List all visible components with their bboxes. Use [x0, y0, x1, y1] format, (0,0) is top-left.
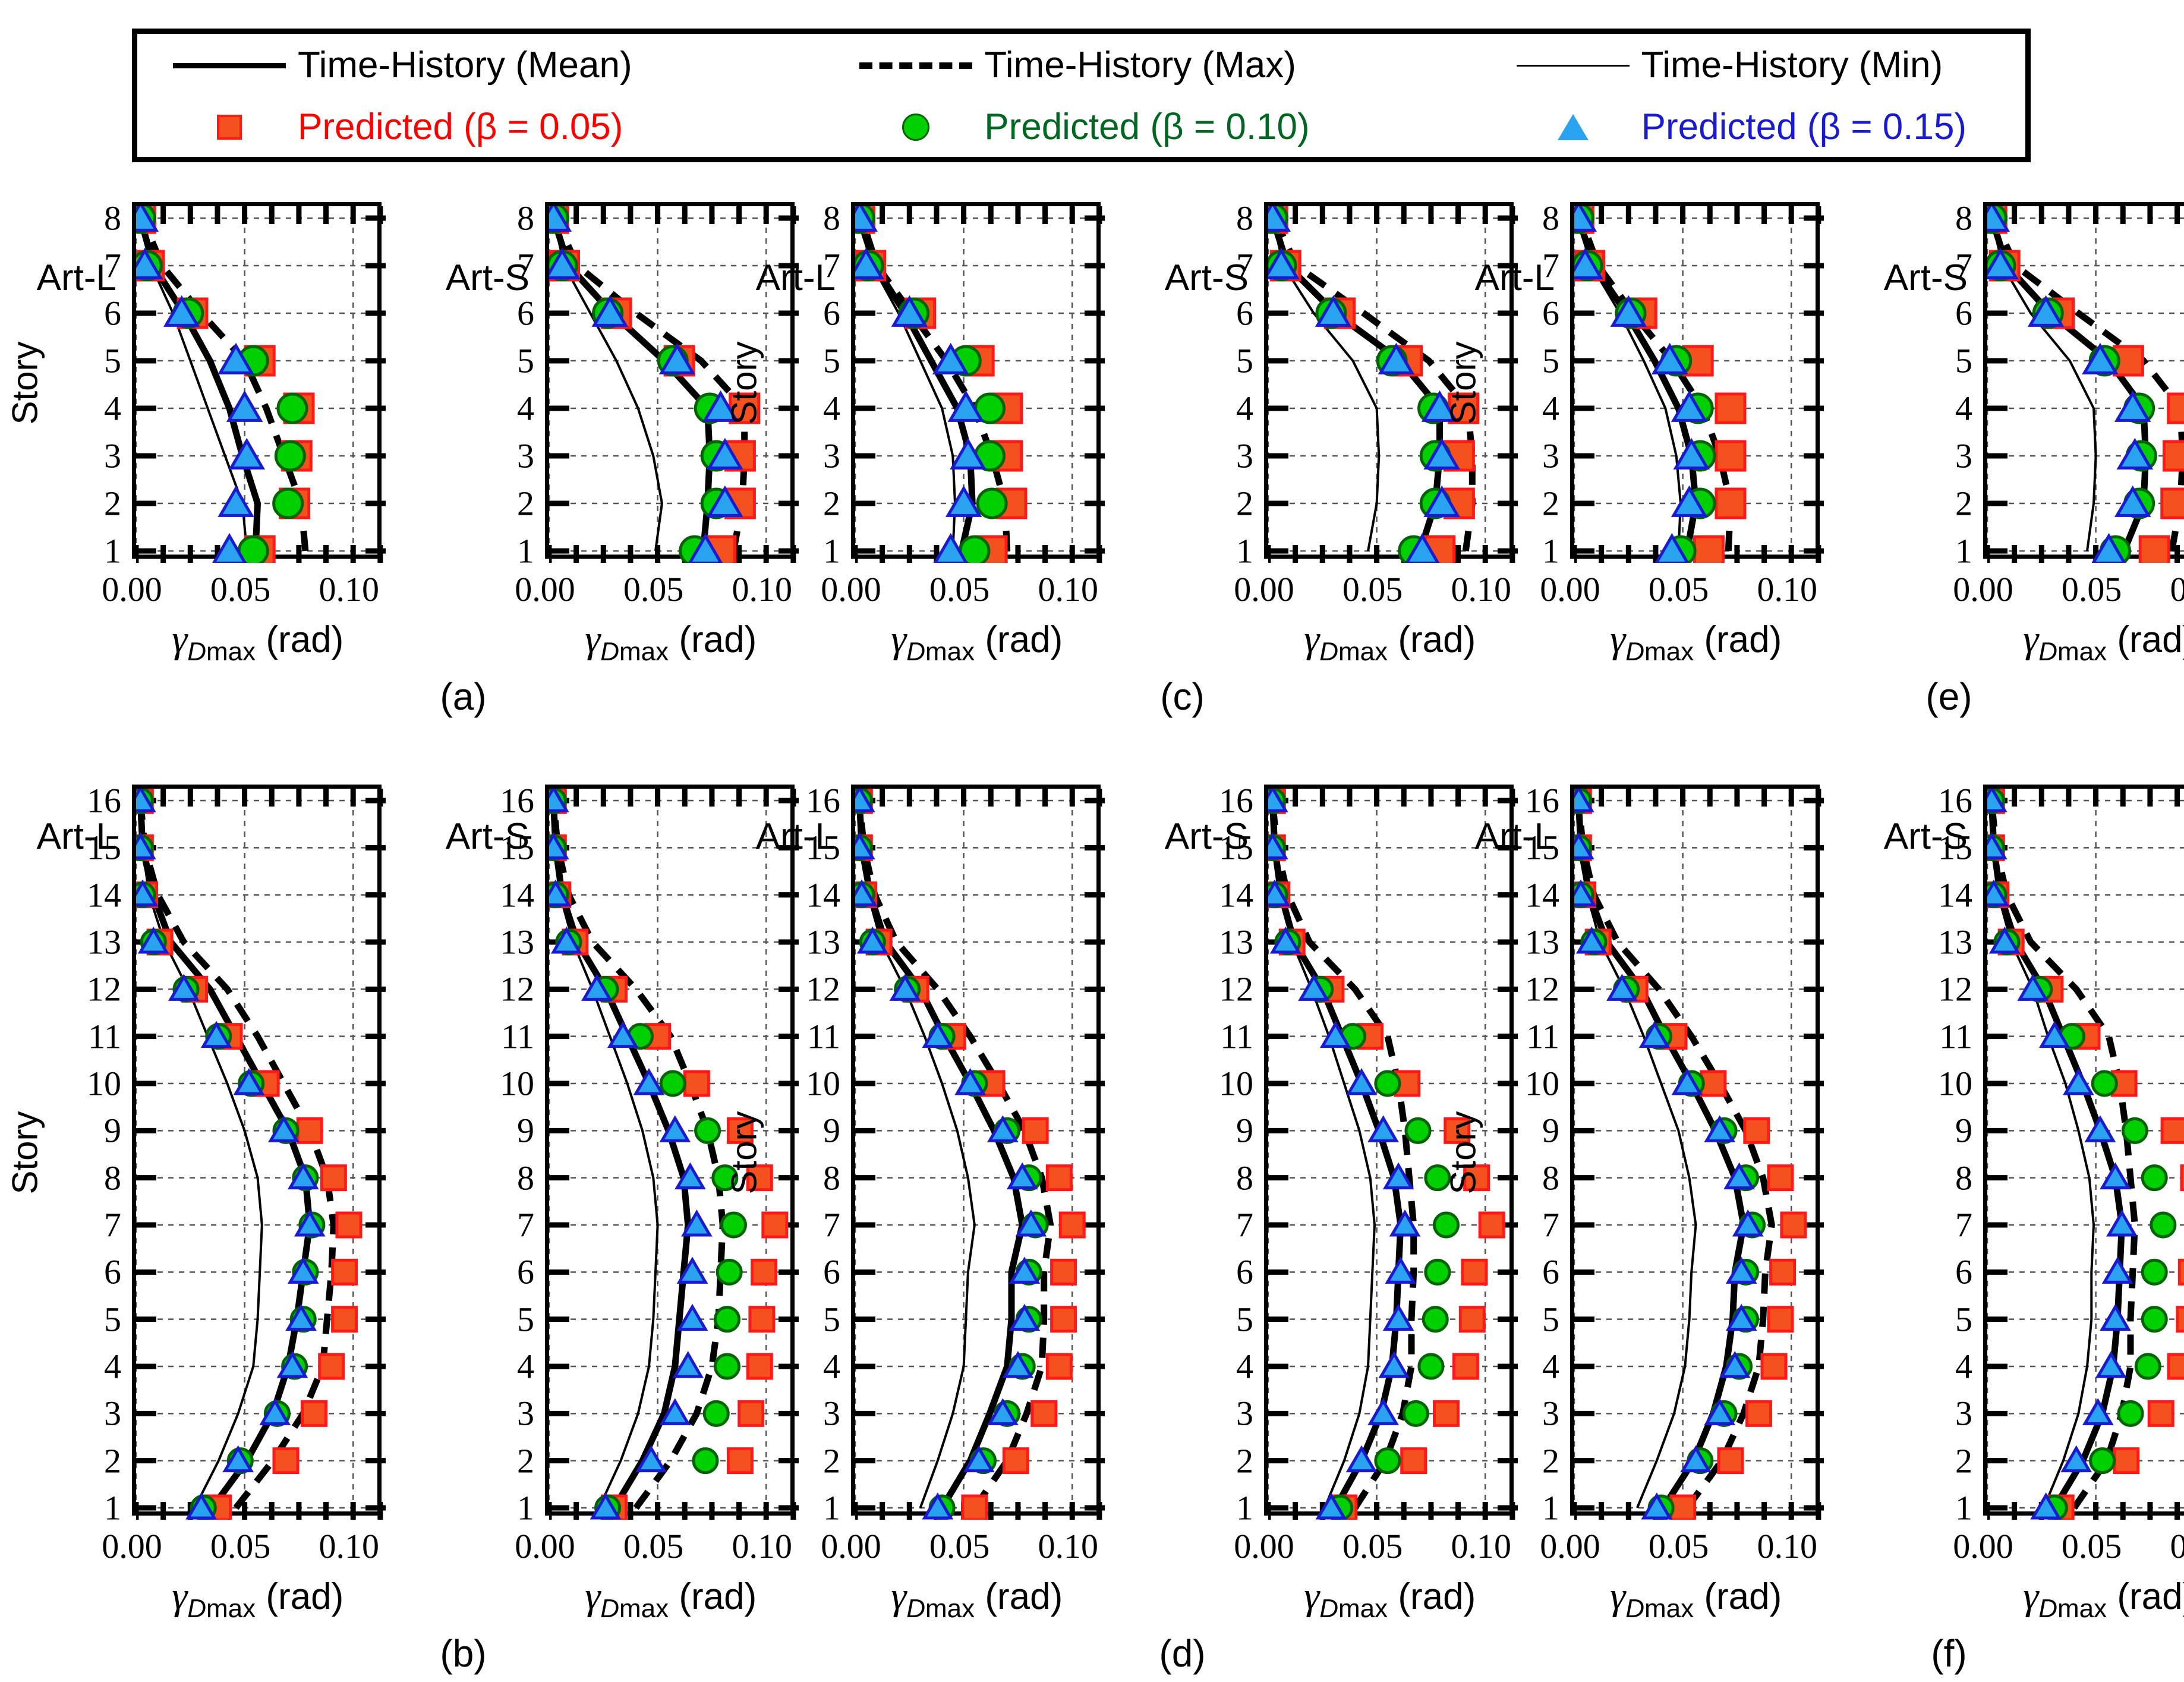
y-tick-label: 4 — [1187, 1347, 1253, 1387]
y-tick-label: 7 — [1187, 246, 1253, 286]
legend-item-mean: Time-History (Mean) — [137, 42, 847, 89]
x-tick-label: 0.00 — [102, 1526, 162, 1566]
y-tick-label: 12 — [55, 969, 121, 1009]
marker-circle-beta010 — [2123, 1119, 2147, 1142]
x-tick-label: 0.05 — [1342, 569, 1403, 609]
y-tick-label: 8 — [1493, 199, 1559, 238]
y-tick-label: 6 — [1906, 294, 1972, 333]
y-tick-label: 6 — [774, 1252, 840, 1292]
marker-square-beta005 — [1023, 1119, 1047, 1142]
y-tick-label: 5 — [1493, 1299, 1559, 1339]
marker-square-beta005 — [1060, 1213, 1084, 1237]
line-solid-thick-icon — [161, 63, 298, 68]
y-tick-label: 11 — [468, 1016, 534, 1056]
x-tick-label: 0.10 — [1038, 1526, 1098, 1566]
x-tick-label: 0.05 — [210, 569, 271, 609]
x-axis-label: γDmax (rad) — [891, 1574, 1063, 1624]
marker-square-beta005 — [728, 1449, 752, 1473]
y-tick-label: 5 — [774, 1299, 840, 1339]
y-axis-label: Story — [1443, 306, 1484, 461]
marker-square-beta005 — [1782, 1213, 1805, 1237]
y-tick-label: 5 — [1906, 1299, 1972, 1339]
plot-frame — [1570, 785, 1820, 1516]
y-tick-label: 7 — [1493, 246, 1559, 286]
plot-canvas — [1574, 789, 1824, 1520]
marker-circle-beta010 — [274, 489, 302, 518]
y-tick-label: 3 — [468, 1394, 534, 1434]
marker-square-beta005 — [337, 1213, 361, 1237]
x-tick-label: 0.10 — [2170, 569, 2184, 609]
marker-square-beta005 — [1771, 1260, 1795, 1284]
y-tick-label: 4 — [1493, 389, 1559, 429]
marker-circle-beta010 — [2092, 1072, 2116, 1095]
y-tick-label: 2 — [1187, 484, 1253, 524]
legend-label-mean: Time-History (Mean) — [298, 42, 632, 89]
y-tick-label: 1 — [1493, 531, 1559, 571]
series-line — [1991, 801, 2135, 1508]
y-tick-label: 13 — [774, 922, 840, 962]
y-tick-label: 2 — [774, 484, 840, 524]
legend-item-beta005: Predicted (β = 0.05) — [137, 104, 847, 150]
x-axis-label: γDmax (rad) — [2023, 617, 2184, 667]
marker-circle-beta010 — [2142, 1166, 2166, 1190]
x-axis-label: γDmax (rad) — [2023, 1574, 2184, 1624]
plot-frame — [1983, 202, 2184, 559]
y-tick-label: 6 — [468, 1252, 534, 1292]
x-tick-label: 0.05 — [929, 1526, 990, 1566]
marker-triangle-beta015 — [1385, 1307, 1411, 1330]
y-tick-label: 7 — [1493, 1205, 1559, 1245]
marker-circle-beta010 — [1376, 1072, 1400, 1095]
x-tick-label: 0.00 — [102, 569, 162, 609]
x-tick-label: 0.05 — [623, 1526, 684, 1566]
y-tick-label: 3 — [1187, 436, 1253, 476]
y-tick-label: 8 — [1187, 199, 1253, 238]
marker-square-beta005 — [963, 1496, 987, 1520]
x-tick-label: 0.10 — [1451, 569, 1511, 609]
x-tick-label: 0.10 — [732, 1526, 792, 1566]
x-tick-label: 0.00 — [1234, 1526, 1294, 1566]
y-tick-label: 8 — [1493, 1158, 1559, 1198]
marker-square-beta005 — [1716, 442, 1745, 470]
y-tick-label: 7 — [468, 246, 534, 286]
marker-circle-beta010 — [1426, 1260, 1449, 1284]
y-tick-label: 13 — [1906, 922, 1972, 962]
y-tick-label: 4 — [1493, 1347, 1559, 1387]
y-tick-label: 3 — [1906, 1394, 1972, 1434]
marker-square-beta005 — [1463, 1260, 1486, 1284]
x-tick-label: 0.10 — [319, 1526, 379, 1566]
marker-triangle-beta015 — [1381, 1354, 1407, 1377]
legend-item-beta010: Predicted (β = 0.10) — [847, 104, 1504, 150]
y-tick-label: 5 — [774, 341, 840, 381]
x-tick-label: 0.00 — [1540, 1526, 1600, 1566]
y-tick-label: 8 — [1906, 199, 1972, 238]
y-axis-label: Story — [1443, 1076, 1484, 1230]
marker-triangle-beta015 — [1348, 1071, 1375, 1094]
y-tick-label: 16 — [1906, 781, 1972, 821]
marker-square-beta005 — [752, 1260, 776, 1284]
y-tick-label: 15 — [55, 828, 121, 868]
marker-square-beta005 — [1716, 394, 1745, 423]
marker-circle-beta010 — [715, 1355, 739, 1378]
x-axis-label: γDmax (rad) — [172, 1574, 343, 1624]
y-tick-label: 3 — [1187, 1394, 1253, 1434]
marker-triangle-beta015 — [1348, 1448, 1375, 1471]
marker-square-beta005 — [2169, 394, 2184, 423]
y-tick-label: 16 — [468, 781, 534, 821]
marker-square-beta005 — [1047, 1355, 1071, 1378]
y-tick-label: 14 — [1187, 875, 1253, 915]
y-axis-label: Story — [5, 306, 46, 461]
x-tick-label: 0.00 — [1953, 569, 2013, 609]
x-axis-label: γDmax (rad) — [585, 1574, 757, 1624]
y-tick-label: 4 — [1906, 389, 1972, 429]
y-tick-label: 2 — [468, 484, 534, 524]
y-tick-label: 8 — [468, 1158, 534, 1198]
y-tick-label: 5 — [468, 341, 534, 381]
series-line — [1578, 801, 1772, 1508]
y-tick-label: 1 — [774, 1488, 840, 1528]
subplot-label: (c) — [1160, 675, 1205, 719]
legend-label-beta015: Predicted (β = 0.15) — [1641, 104, 1966, 150]
series-line — [859, 801, 1022, 1508]
plot-frame — [132, 202, 382, 559]
plot-canvas — [136, 206, 386, 563]
y-tick-label: 13 — [468, 922, 534, 962]
legend-label-max: Time-History (Max) — [984, 42, 1296, 89]
x-axis-label: γDmax (rad) — [1304, 1574, 1476, 1624]
legend-row-lines: Time-History (Mean) Time-History (Max) T… — [137, 42, 2025, 89]
y-tick-label: 1 — [774, 531, 840, 571]
marker-triangle-beta015 — [220, 489, 252, 516]
marker-square-beta005 — [2162, 1119, 2184, 1142]
y-tick-label: 9 — [1906, 1111, 1972, 1151]
legend-box: Time-History (Mean) Time-History (Max) T… — [132, 29, 2031, 162]
y-tick-label: 11 — [774, 1016, 840, 1056]
y-tick-label: 4 — [1906, 1347, 1972, 1387]
marker-triangle-beta015 — [1370, 1401, 1397, 1423]
plot-frame — [851, 785, 1101, 1516]
y-tick-label: 5 — [1187, 1299, 1253, 1339]
y-tick-label: 2 — [774, 1441, 840, 1481]
marker-square-beta005 — [2140, 537, 2169, 563]
marker-triangle-beta015 — [2104, 1259, 2131, 1282]
y-tick-label: 12 — [1906, 969, 1972, 1009]
y-tick-label: 7 — [774, 1205, 840, 1245]
x-tick-label: 0.05 — [623, 569, 684, 609]
y-tick-label: 5 — [1493, 341, 1559, 381]
marker-square-beta005 — [2114, 1449, 2138, 1473]
y-tick-label: 10 — [1493, 1064, 1559, 1104]
y-tick-label: 2 — [1187, 1441, 1253, 1481]
marker-square-beta005 — [1769, 1166, 1792, 1190]
y-tick-label: 4 — [468, 389, 534, 429]
y-tick-label: 11 — [1493, 1016, 1559, 1056]
legend-item-beta015: Predicted (β = 0.15) — [1505, 104, 2025, 150]
x-tick-label: 0.05 — [1342, 1526, 1403, 1566]
marker-square-beta005 — [2169, 1355, 2184, 1378]
y-tick-label: 9 — [1493, 1111, 1559, 1151]
square-marker-icon — [161, 115, 298, 140]
x-tick-label: 0.00 — [1953, 1526, 2013, 1566]
x-tick-label: 0.10 — [1038, 569, 1098, 609]
y-tick-label: 8 — [1906, 1158, 1972, 1198]
marker-circle-beta010 — [704, 1401, 728, 1425]
marker-square-beta005 — [1402, 1449, 1426, 1473]
marker-square-beta005 — [274, 1449, 298, 1473]
circle-marker-icon — [847, 114, 984, 141]
x-axis-label: γDmax (rad) — [172, 617, 343, 667]
marker-square-beta005 — [1434, 1401, 1458, 1425]
y-tick-label: 1 — [1906, 1488, 1972, 1528]
y-tick-label: 11 — [1906, 1016, 1972, 1056]
marker-circle-beta010 — [276, 442, 304, 470]
y-tick-label: 1 — [1493, 1488, 1559, 1528]
y-tick-label: 3 — [1493, 1394, 1559, 1434]
y-tick-label: 2 — [1493, 484, 1559, 524]
triangle-marker-icon — [1505, 114, 1641, 140]
y-tick-label: 3 — [1493, 436, 1559, 476]
marker-square-beta005 — [2164, 442, 2184, 470]
series-line — [1272, 801, 1413, 1508]
y-tick-label: 7 — [1906, 246, 1972, 286]
marker-square-beta005 — [750, 1308, 774, 1331]
marker-circle-beta010 — [2142, 1260, 2166, 1284]
y-tick-label: 16 — [774, 781, 840, 821]
y-tick-label: 6 — [1493, 1252, 1559, 1292]
marker-circle-beta010 — [278, 394, 307, 423]
marker-square-beta005 — [1052, 1308, 1076, 1331]
y-tick-label: 5 — [55, 1299, 121, 1339]
marker-circle-beta010 — [1404, 1401, 1427, 1425]
y-tick-label: 14 — [468, 875, 534, 915]
y-tick-label: 6 — [468, 294, 534, 333]
y-tick-label: 15 — [468, 828, 534, 868]
marker-circle-beta010 — [717, 1260, 741, 1284]
marker-circle-beta010 — [1423, 1308, 1447, 1331]
x-tick-label: 0.10 — [2170, 1526, 2184, 1566]
legend-label-beta005: Predicted (β = 0.05) — [298, 104, 623, 150]
marker-square-beta005 — [1004, 1449, 1028, 1473]
y-tick-label: 8 — [468, 199, 534, 238]
x-tick-label: 0.05 — [1649, 569, 1709, 609]
marker-circle-beta010 — [2091, 1449, 2114, 1473]
y-tick-label: 2 — [1493, 1441, 1559, 1481]
marker-circle-beta010 — [694, 1449, 717, 1473]
y-tick-label: 6 — [1187, 1252, 1253, 1292]
y-tick-label: 1 — [468, 1488, 534, 1528]
x-tick-label: 0.00 — [515, 569, 575, 609]
y-tick-label: 3 — [468, 436, 534, 476]
y-tick-label: 8 — [1187, 1158, 1253, 1198]
y-tick-label: 10 — [468, 1064, 534, 1104]
y-tick-label: 1 — [1906, 531, 1972, 571]
marker-circle-beta010 — [1376, 1449, 1400, 1473]
marker-circle-beta010 — [661, 1072, 685, 1095]
y-tick-label: 7 — [1187, 1205, 1253, 1245]
y-tick-label: 9 — [468, 1111, 534, 1151]
marker-square-beta005 — [1032, 1401, 1056, 1425]
y-tick-label: 5 — [1906, 341, 1972, 381]
subplot-label: (a) — [440, 675, 486, 719]
y-tick-label: 16 — [1493, 781, 1559, 821]
y-tick-label: 11 — [55, 1016, 121, 1056]
x-tick-label: 0.05 — [929, 569, 990, 609]
y-tick-label: 10 — [774, 1064, 840, 1104]
marker-square-beta005 — [2162, 489, 2184, 518]
marker-square-beta005 — [2179, 1260, 2184, 1284]
x-tick-label: 0.00 — [821, 569, 881, 609]
y-axis-label: Story — [724, 1076, 765, 1230]
series-line — [553, 801, 723, 1508]
y-tick-label: 2 — [55, 484, 121, 524]
x-axis-label: γDmax (rad) — [1304, 617, 1476, 667]
y-tick-label: 1 — [55, 531, 121, 571]
y-tick-label: 3 — [55, 1394, 121, 1434]
y-tick-label: 15 — [1187, 828, 1253, 868]
x-tick-label: 0.00 — [821, 1526, 881, 1566]
y-tick-label: 4 — [55, 389, 121, 429]
plot-frame — [851, 202, 1101, 559]
marker-square-beta005 — [2149, 1401, 2173, 1425]
line-dashed-icon — [847, 62, 984, 69]
marker-triangle-beta015 — [2087, 1118, 2113, 1141]
y-tick-label: 10 — [1906, 1064, 1972, 1104]
y-tick-label: 16 — [55, 781, 121, 821]
plot-frame — [1570, 202, 1820, 559]
y-tick-label: 14 — [55, 875, 121, 915]
marker-square-beta005 — [322, 1166, 345, 1190]
y-tick-label: 12 — [468, 969, 534, 1009]
x-tick-label: 0.05 — [210, 1526, 271, 1566]
y-tick-label: 6 — [1906, 1252, 1972, 1292]
x-tick-label: 0.10 — [1757, 1526, 1817, 1566]
y-tick-label: 6 — [55, 294, 121, 333]
legend-item-min: Time-History (Min) — [1505, 42, 2025, 89]
marker-circle-beta010 — [715, 1308, 739, 1331]
y-tick-label: 1 — [1187, 531, 1253, 571]
plot-canvas — [1574, 206, 1824, 563]
y-tick-label: 6 — [774, 294, 840, 333]
plot-canvas — [136, 789, 386, 1520]
marker-circle-beta010 — [2151, 1213, 2175, 1237]
subplot-label: (b) — [440, 1631, 486, 1675]
y-tick-label: 11 — [1187, 1016, 1253, 1056]
line-solid-thin-icon — [1505, 65, 1641, 67]
marker-square-beta005 — [1047, 1166, 1071, 1190]
plot-frame — [132, 785, 382, 1516]
y-tick-label: 3 — [774, 1394, 840, 1434]
y-tick-label: 16 — [1187, 781, 1253, 821]
marker-square-beta005 — [1671, 1496, 1695, 1520]
marker-circle-beta010 — [2142, 1308, 2166, 1331]
y-tick-label: 9 — [774, 1111, 840, 1151]
y-tick-label: 5 — [468, 1299, 534, 1339]
subplot-label: (e) — [1925, 675, 1972, 719]
series-line — [553, 801, 688, 1508]
x-tick-label: 0.10 — [1451, 1526, 1511, 1566]
y-tick-label: 7 — [55, 1205, 121, 1245]
y-tick-label: 12 — [1493, 969, 1559, 1009]
marker-triangle-beta015 — [2065, 1071, 2091, 1094]
marker-square-beta005 — [1719, 1449, 1742, 1473]
x-tick-label: 0.10 — [1757, 569, 1817, 609]
y-tick-label: 9 — [1187, 1111, 1253, 1151]
marker-triangle-beta015 — [1388, 1259, 1414, 1282]
x-tick-label: 0.00 — [1540, 569, 1600, 609]
marker-triangle-beta015 — [2098, 1354, 2124, 1377]
y-tick-label: 6 — [1493, 294, 1559, 333]
y-tick-label: 13 — [1187, 922, 1253, 962]
legend-row-markers: Predicted (β = 0.05) Predicted (β = 0.10… — [137, 104, 2025, 150]
y-tick-label: 3 — [55, 436, 121, 476]
marker-square-beta005 — [748, 1355, 771, 1378]
marker-square-beta005 — [1052, 1260, 1076, 1284]
marker-square-beta005 — [1769, 1308, 1792, 1331]
y-tick-label: 2 — [55, 1441, 121, 1481]
x-tick-label: 0.05 — [1649, 1526, 1709, 1566]
y-tick-label: 3 — [1906, 436, 1972, 476]
y-tick-label: 7 — [774, 246, 840, 286]
marker-circle-beta010 — [1419, 1355, 1443, 1378]
subplot-label: (f) — [1931, 1631, 1966, 1675]
x-tick-label: 0.05 — [2062, 569, 2122, 609]
y-tick-label: 6 — [1187, 294, 1253, 333]
y-tick-label: 15 — [774, 828, 840, 868]
y-tick-label: 7 — [468, 1205, 534, 1245]
marker-triangle-beta015 — [2102, 1307, 2128, 1330]
x-axis-label: γDmax (rad) — [1610, 617, 1782, 667]
marker-triangle-beta015 — [231, 441, 263, 468]
marker-square-beta005 — [2182, 1166, 2184, 1190]
x-axis-label: γDmax (rad) — [585, 617, 757, 667]
y-tick-label: 10 — [1187, 1064, 1253, 1104]
x-tick-label: 0.10 — [732, 569, 792, 609]
y-tick-label: 1 — [468, 531, 534, 571]
marker-square-beta005 — [2177, 1308, 2184, 1331]
y-tick-label: 2 — [1906, 1441, 1972, 1481]
marker-square-beta005 — [1747, 1401, 1770, 1425]
subplot-label: (d) — [1159, 1631, 1205, 1675]
y-tick-label: 12 — [774, 969, 840, 1009]
y-tick-label: 1 — [55, 1488, 121, 1528]
plot-canvas — [1987, 789, 2184, 1520]
marker-triangle-beta015 — [229, 393, 260, 421]
y-tick-label: 10 — [55, 1064, 121, 1104]
plot-canvas — [855, 206, 1105, 563]
marker-circle-beta010 — [696, 1119, 720, 1142]
y-tick-label: 13 — [55, 922, 121, 962]
x-tick-label: 0.10 — [319, 569, 379, 609]
y-tick-label: 4 — [1187, 389, 1253, 429]
x-tick-label: 0.00 — [515, 1526, 575, 1566]
y-tick-label: 8 — [55, 1158, 121, 1198]
y-tick-label: 15 — [1906, 828, 1972, 868]
y-tick-label: 15 — [1493, 828, 1559, 868]
y-tick-label: 2 — [468, 1441, 534, 1481]
y-tick-label: 4 — [774, 1347, 840, 1387]
marker-square-beta005 — [333, 1308, 357, 1331]
y-tick-label: 7 — [55, 246, 121, 286]
marker-square-beta005 — [685, 1072, 708, 1095]
marker-circle-beta010 — [2119, 1401, 2142, 1425]
y-tick-label: 1 — [1187, 1488, 1253, 1528]
y-tick-label: 13 — [1493, 922, 1559, 962]
marker-square-beta005 — [333, 1260, 357, 1284]
y-tick-label: 4 — [468, 1347, 534, 1387]
marker-square-beta005 — [1454, 1355, 1477, 1378]
